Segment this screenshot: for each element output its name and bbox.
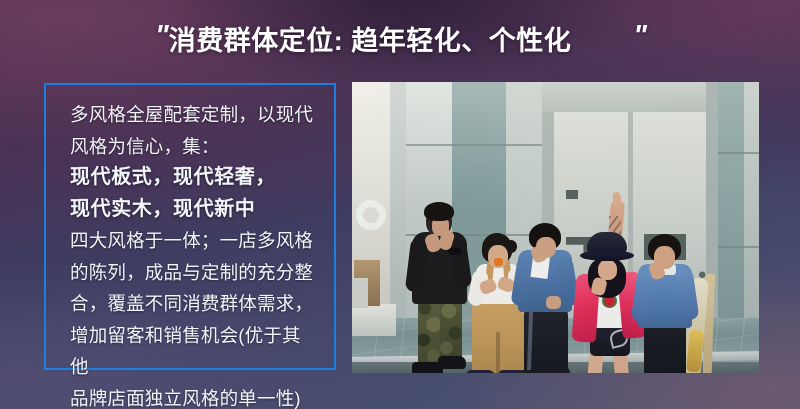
panel-line: 的陈列，成品与定制的充分整 <box>70 257 316 289</box>
photo-color-tint <box>352 82 759 373</box>
panel-line-emphasis: 现代实木，现代新中 <box>70 194 316 226</box>
title-inner: " 消费群体定位: 趋年轻化、个性化 " <box>155 19 645 58</box>
panel-line: 风格为信心，集： <box>70 131 316 163</box>
quote-open-icon: " <box>155 22 167 51</box>
description-panel: 多风格全屋配套定制，以现代 风格为信心，集： 现代板式，现代轻奢， 现代实木，现… <box>44 83 336 370</box>
quote-close-icon: " <box>633 22 645 51</box>
group-photo <box>352 82 759 373</box>
page-title: 消费群体定位: 趋年轻化、个性化 <box>169 19 572 58</box>
slide-canvas: " 消费群体定位: 趋年轻化、个性化 " 多风格全屋配套定制，以现代 风格为信心… <box>0 0 800 409</box>
panel-line: 合，覆盖不同消费群体需求， <box>70 288 316 320</box>
slide-title-bar: " 消费群体定位: 趋年轻化、个性化 " <box>0 16 800 60</box>
panel-line: 品牌店面独立风格的单一性) <box>70 383 316 409</box>
panel-line: 多风格全屋配套定制，以现代 <box>70 99 316 131</box>
panel-line: 四大风格于一体；一店多风格 <box>70 225 316 257</box>
panel-line-emphasis: 现代板式，现代轻奢， <box>70 162 316 194</box>
panel-line: 增加留客和销售机会(优于其他 <box>70 320 316 383</box>
